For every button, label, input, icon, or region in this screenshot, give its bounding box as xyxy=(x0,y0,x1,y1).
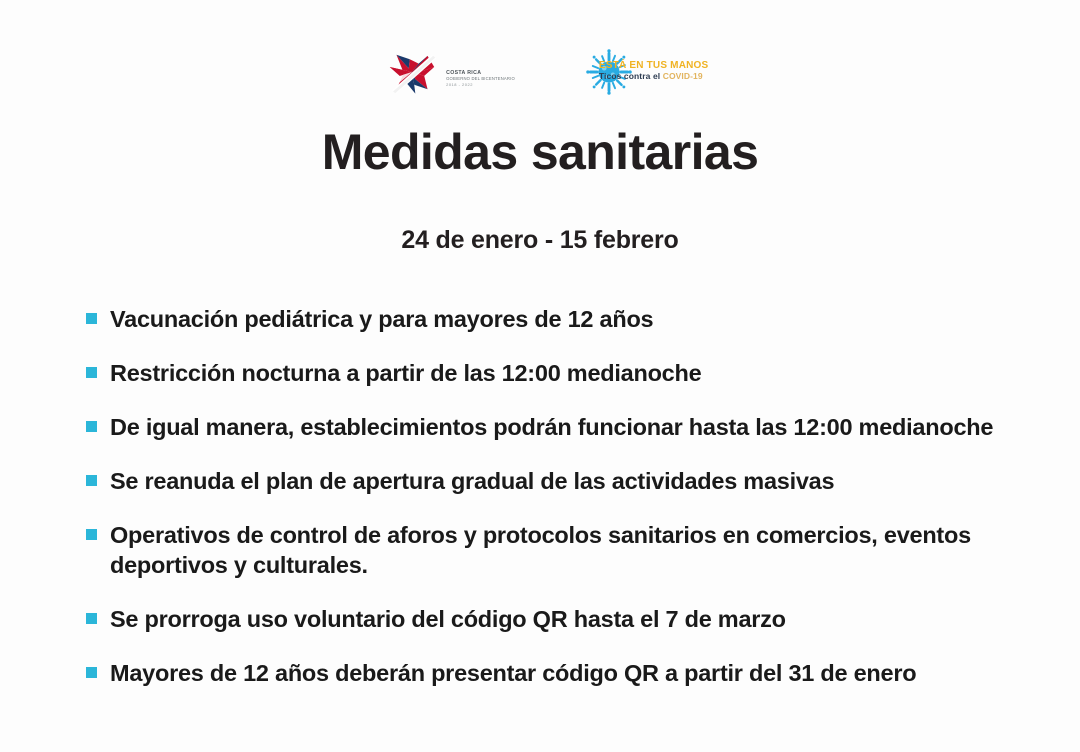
bullet-square-icon xyxy=(86,529,97,540)
measure-text: Se reanuda el plan de apertura gradual d… xyxy=(110,466,834,496)
list-item: Vacunación pediátrica y para mayores de … xyxy=(86,304,1010,334)
campaign-title: ESTÁ EN TUS MANOS xyxy=(599,60,699,71)
list-item: Se prorroga uso voluntario del código QR… xyxy=(86,604,1010,634)
measure-text: De igual manera, establecimientos podrán… xyxy=(110,412,993,442)
bullet-square-icon xyxy=(86,475,97,486)
measure-text: Se prorroga uso voluntario del código QR… xyxy=(110,604,786,634)
bullet-square-icon xyxy=(86,367,97,378)
measure-text: Mayores de 12 años deberán presentar cód… xyxy=(110,658,916,688)
list-item: De igual manera, establecimientos podrán… xyxy=(86,412,1010,442)
gov-wordmark: COSTA RICA GOBIERNO DEL BICENTENARIO 201… xyxy=(446,56,515,89)
gov-wordmark-line3: 2018 - 2022 xyxy=(446,82,515,88)
costa-rica-government-logo: COSTA RICA GOBIERNO DEL BICENTENARIO 201… xyxy=(383,47,515,97)
list-item: Operativos de control de aforos y protoc… xyxy=(86,520,1010,580)
campaign-subtitle-prefix: Ticos contra el xyxy=(599,71,663,81)
measure-text: Restricción nocturna a partir de las 12:… xyxy=(110,358,701,388)
page-title: Medidas sanitarias xyxy=(322,124,759,180)
bullet-square-icon xyxy=(86,421,97,432)
list-item: Mayores de 12 años deberán presentar cód… xyxy=(86,658,1010,688)
logo-header: COSTA RICA GOBIERNO DEL BICENTENARIO 201… xyxy=(0,0,1080,110)
bullet-square-icon xyxy=(86,613,97,624)
list-item: Se reanuda el plan de apertura gradual d… xyxy=(86,466,1010,496)
sanitary-measures-poster: COSTA RICA GOBIERNO DEL BICENTENARIO 201… xyxy=(0,0,1080,752)
list-item: Restricción nocturna a partir de las 12:… xyxy=(86,358,1010,388)
measures-list: Vacunación pediátrica y para mayores de … xyxy=(0,274,1080,712)
costa-rica-star-logo-icon xyxy=(383,47,441,97)
bullet-square-icon xyxy=(86,667,97,678)
bullet-square-icon xyxy=(86,313,97,324)
measure-text: Vacunación pediátrica y para mayores de … xyxy=(110,304,653,334)
page-subtitle: 24 de enero - 15 febrero xyxy=(401,226,678,254)
esta-en-tus-manos-campaign-logo: ESTÁ EN TUS MANOS Ticos contra el COVID-… xyxy=(585,50,697,94)
campaign-subtitle-covid: COVID-19 xyxy=(663,71,703,81)
campaign-wordmark: ESTÁ EN TUS MANOS Ticos contra el COVID-… xyxy=(599,60,699,81)
measure-text: Operativos de control de aforos y protoc… xyxy=(110,520,1010,580)
campaign-subtitle: Ticos contra el COVID-19 xyxy=(599,71,699,81)
